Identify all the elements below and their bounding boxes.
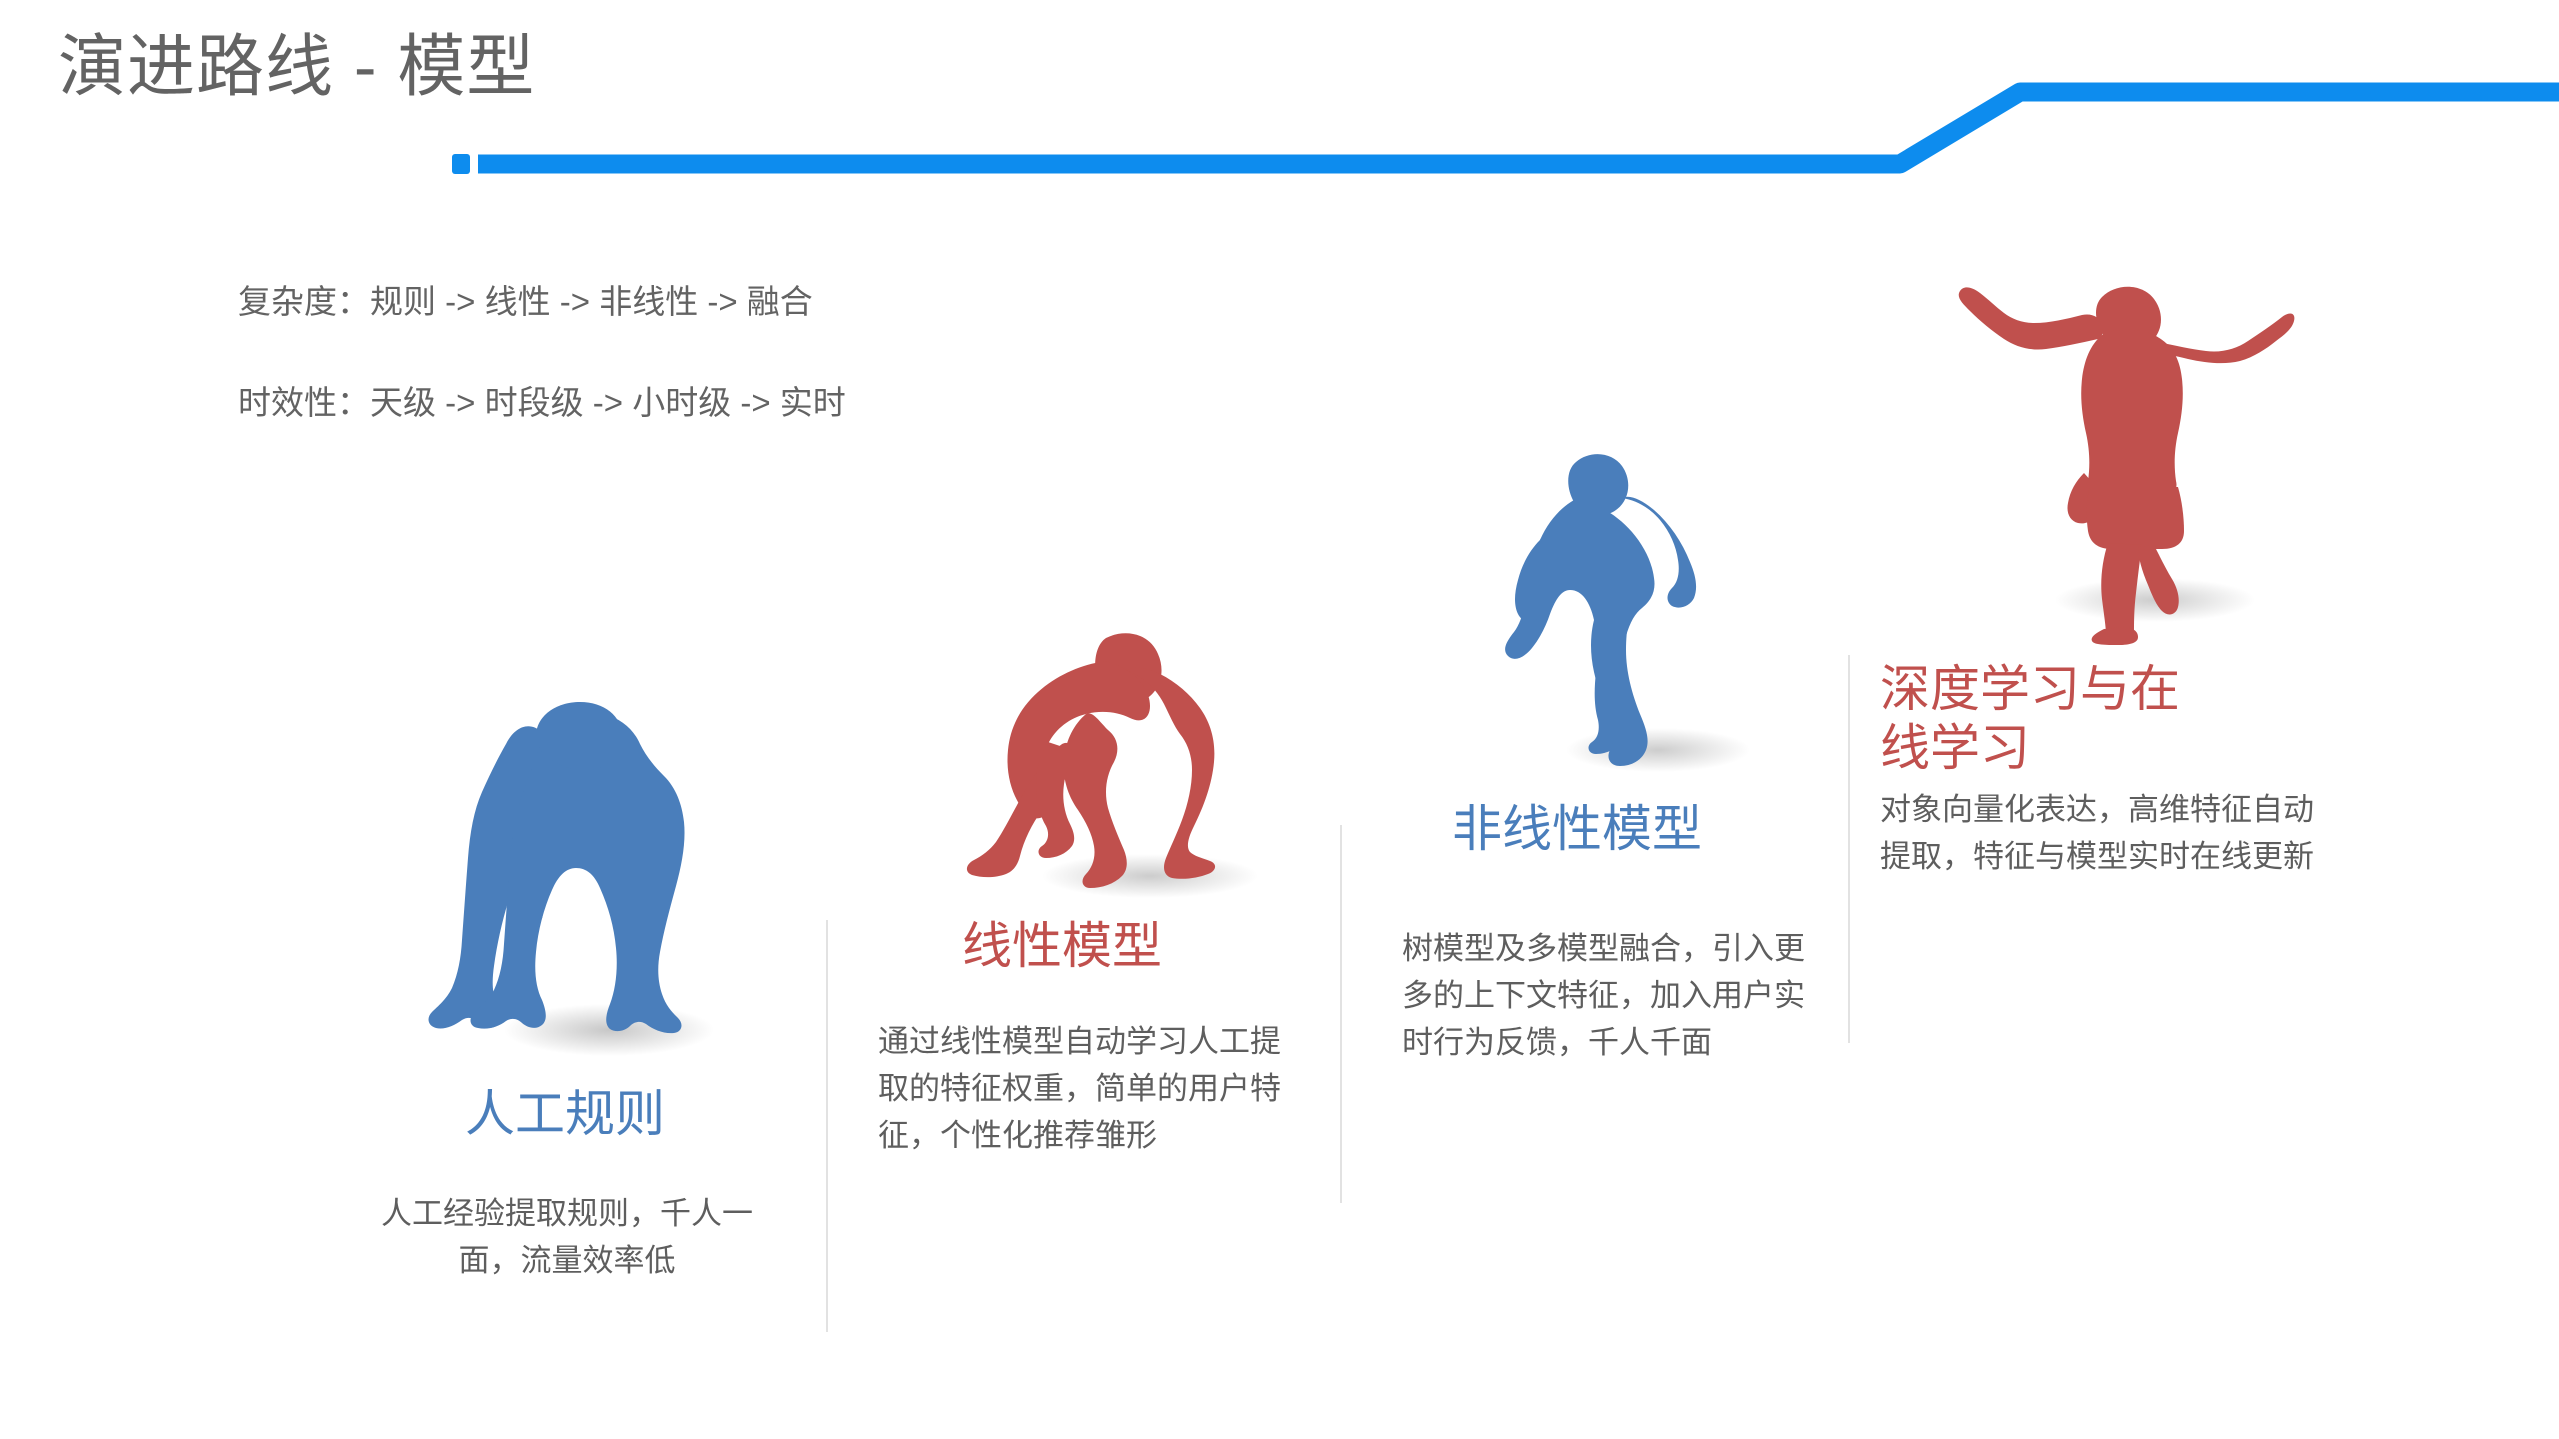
stage-1-body: 人工经验提取规则，千人一面，流量效率低 — [352, 1190, 782, 1284]
stage-4-body: 对象向量化表达，高维特征自动提取，特征与模型实时在线更新 — [1880, 786, 2340, 880]
column-divider-1 — [826, 920, 828, 1332]
title-rule-path — [478, 92, 2559, 164]
summary-block: 复杂度：规则 -> 线性 -> 非线性 -> 融合 时效性：天级 -> 时段级 … — [238, 285, 846, 420]
runner-sprinting-icon — [1490, 450, 1740, 790]
page-title: 演进路线 - 模型 — [58, 28, 535, 106]
stage-2-body: 通过线性模型自动学习人工提取的特征权重，简单的用户特征，个性化推荐雏形 — [878, 1018, 1308, 1159]
runner-finish-arms-raised-icon — [1950, 255, 2300, 645]
runner-crouch-start-side-icon — [960, 630, 1260, 910]
stage-4-heading: 深度学习与在 线学习 — [1880, 660, 2310, 778]
column-divider-2 — [1340, 825, 1342, 1203]
summary-line-timeliness: 时效性：天级 -> 时段级 -> 小时级 -> 实时 — [238, 386, 846, 421]
stage-3-heading: 非线性模型 — [1452, 800, 1852, 859]
runner-crouch-start-front-icon — [424, 700, 714, 1070]
stage-3-body: 树模型及多模型融合，引入更多的上下文特征，加入用户实时行为反馈，千人千面 — [1402, 925, 1822, 1066]
title-rule-dot — [452, 154, 470, 174]
stage-2-heading: 线性模型 — [962, 917, 1322, 976]
summary-line-complexity: 复杂度：规则 -> 线性 -> 非线性 -> 融合 — [238, 285, 846, 320]
stage-1-heading: 人工规则 — [330, 1085, 800, 1144]
